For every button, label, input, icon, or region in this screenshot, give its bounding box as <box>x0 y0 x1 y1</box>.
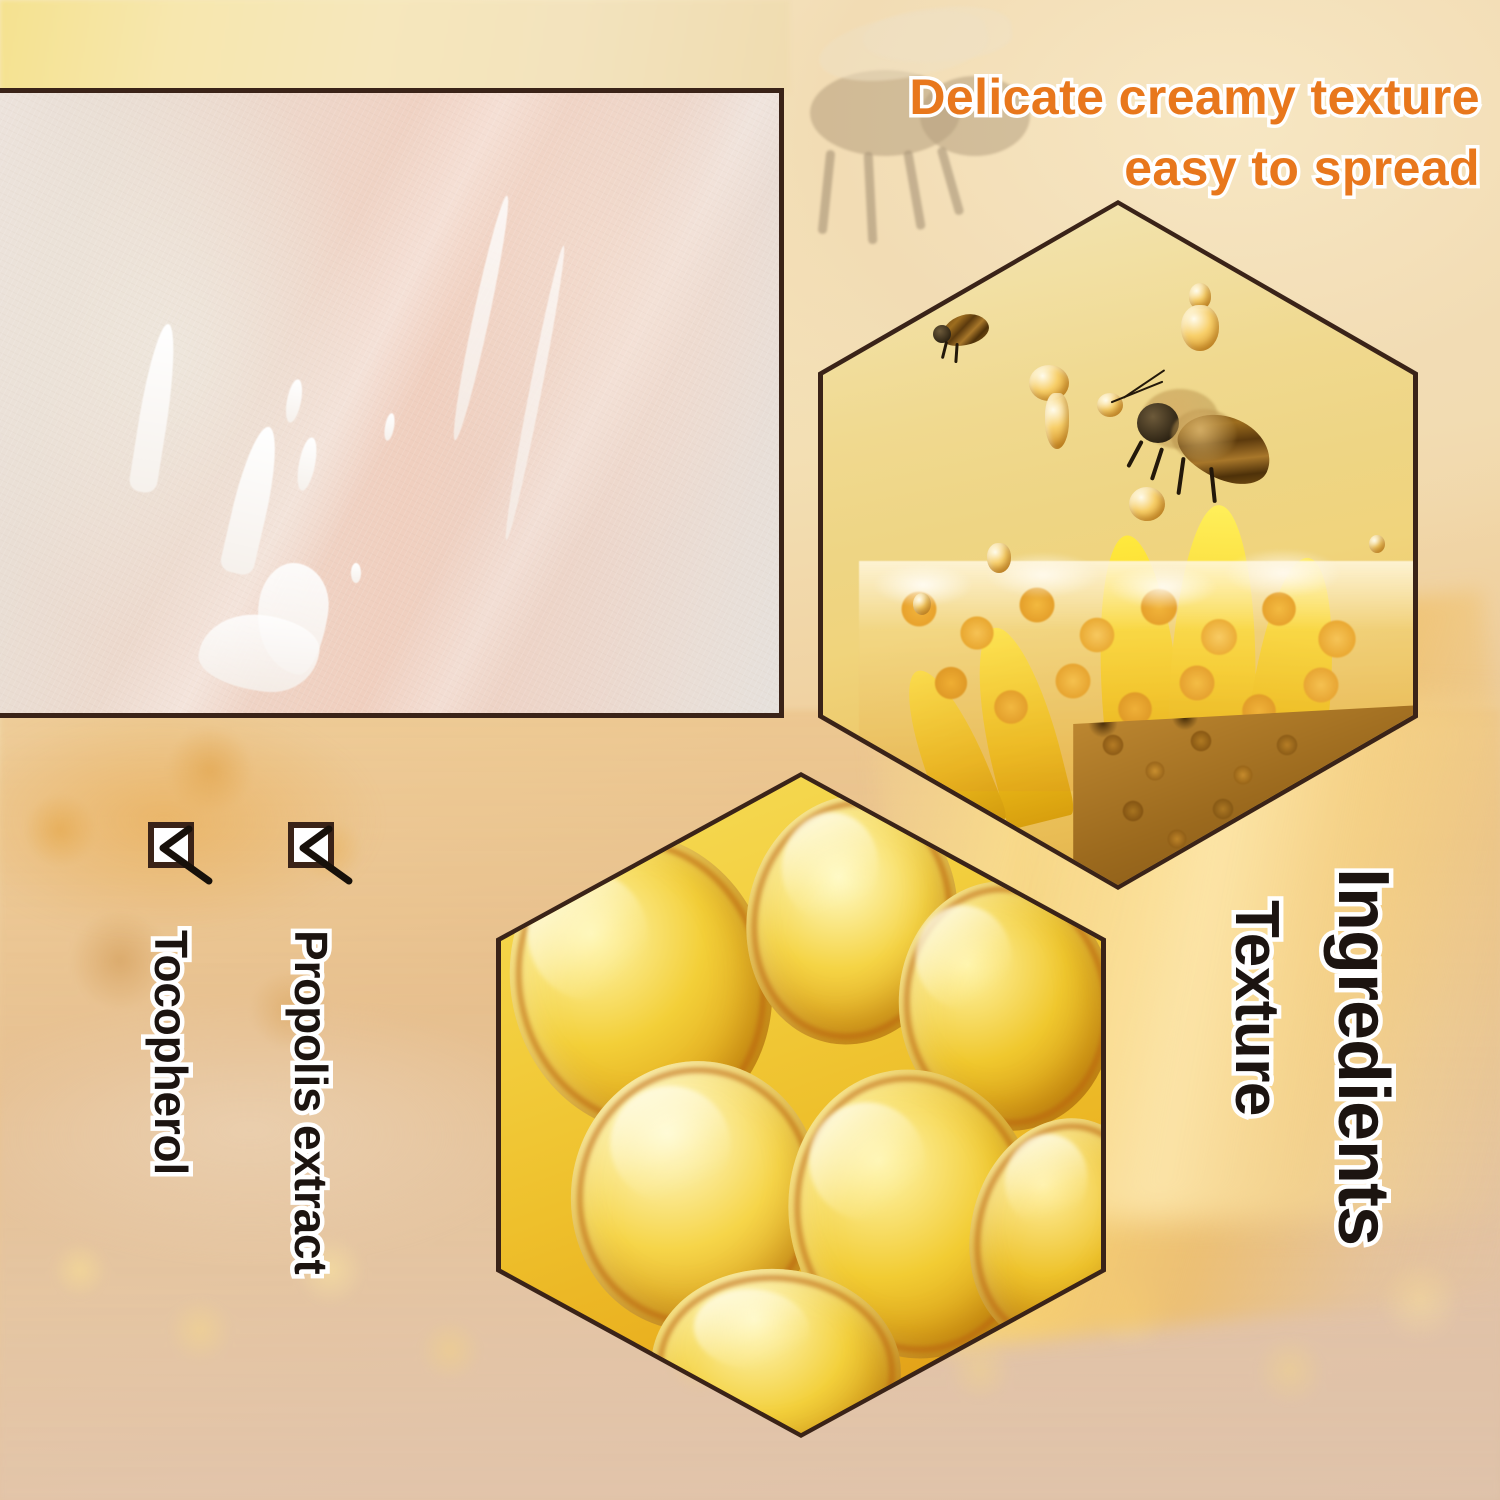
honeycomb-wax-caps <box>853 545 1373 635</box>
bee-icon <box>1115 381 1285 531</box>
swatch-gloss-streak <box>351 563 361 583</box>
honey-droplet <box>913 593 931 615</box>
ingredient-label-propolis-extract: Propolis extract <box>284 930 338 1274</box>
headline: Delicate creamy texture easy to spread <box>640 62 1480 204</box>
check-icon <box>287 821 347 883</box>
honey-droplet <box>987 543 1011 573</box>
bee-icon <box>931 311 1001 363</box>
check-icon <box>147 821 207 883</box>
section-label-ingredients: Ingredients <box>1322 868 1404 1245</box>
headline-line-1: Delicate creamy texture <box>640 62 1480 133</box>
section-label-texture: Texture <box>1221 900 1292 1116</box>
honey-droplet <box>1045 393 1069 449</box>
hexagon-content: Golden vitamin E oil softgel capsules <box>501 777 1101 1433</box>
headline-line-2: easy to spread <box>640 133 1480 204</box>
background-gold-glow <box>0 700 500 1000</box>
product-feature-panel: Glossy beige cream smear swatch <box>0 0 1500 1500</box>
honey-droplet <box>1181 305 1219 351</box>
checkbox-tocopherol[interactable] <box>148 822 194 868</box>
honey-droplet <box>1369 535 1385 553</box>
hexagon-image-clip: Golden vitamin E oil softgel capsules <box>501 777 1101 1433</box>
ingredient-label-tocopherol: Tocopherol <box>144 930 198 1175</box>
sunflower-seed-head <box>1073 705 1423 895</box>
checkbox-propolis-extract[interactable] <box>288 822 334 868</box>
capsules-hexagon-description: Golden vitamin E oil softgel capsules <box>501 777 502 778</box>
honeycomb-hexagon-description: Honeybee, honey droplets, sunflower peta… <box>823 205 824 206</box>
oil-capsules-hexagon: Golden vitamin E oil softgel capsules <box>496 772 1106 1438</box>
